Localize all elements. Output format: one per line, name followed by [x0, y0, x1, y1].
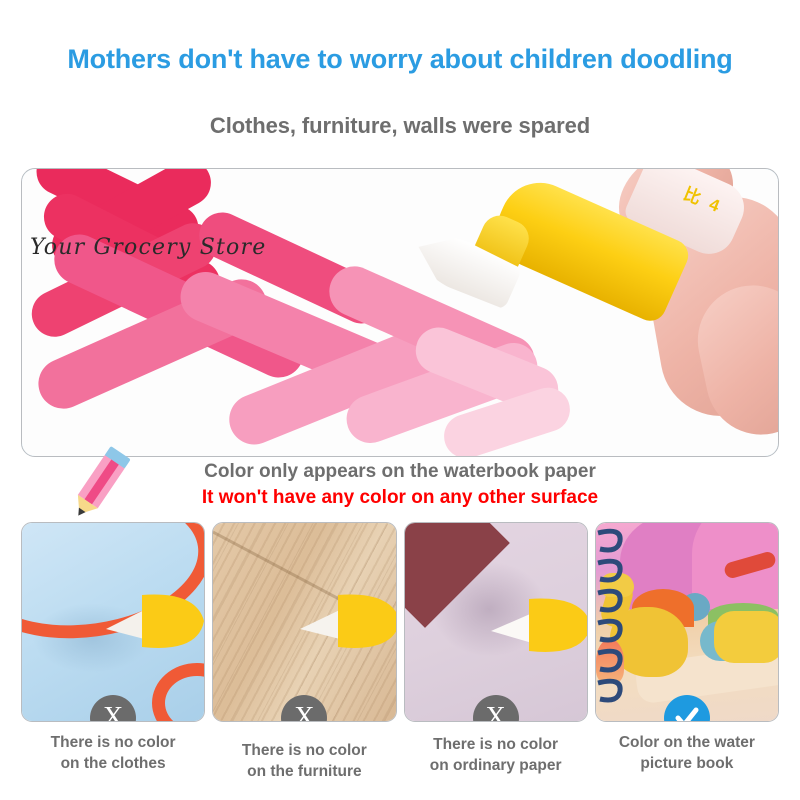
pen-tip-icon [479, 577, 588, 669]
caption-line: on ordinary paper [404, 756, 588, 777]
hero-image: Your Grocery Store 比 4 [21, 168, 779, 457]
caption-line: There is no color [21, 733, 205, 754]
caption-line: on the clothes [21, 754, 205, 775]
caption-line: picture book [595, 754, 779, 775]
panel-ordinary-paper[interactable]: X [404, 522, 588, 722]
caption-line: There is no color [404, 735, 588, 756]
page-subheadline: Clothes, furniture, walls were spared [0, 113, 800, 139]
comparison-panels: X X X [21, 522, 779, 722]
panel-captions: There is no color on the clothes There i… [21, 733, 779, 793]
caption-line: Color on the water [595, 733, 779, 754]
caption-clothes: There is no color on the clothes [21, 733, 205, 793]
panel-clothes[interactable]: X [21, 522, 205, 722]
caption-ordinary-paper: There is no color on ordinary paper [404, 733, 588, 793]
check-icon [673, 704, 701, 722]
pen-tip-icon [88, 575, 205, 667]
panel-furniture[interactable]: X [212, 522, 396, 722]
panel-water-picture-book[interactable] [595, 522, 779, 722]
store-watermark: Your Grocery Store [30, 235, 266, 260]
caption-furniture: There is no color on the furniture [212, 733, 396, 793]
book-art-dino-body [714, 611, 779, 663]
caption-line: There is no color [212, 741, 396, 762]
pencil-icon [61, 444, 137, 526]
page-headline: Mothers don't have to worry about childr… [0, 44, 800, 75]
spiral-binding-icon [596, 523, 626, 722]
caption-warning: It won't have any color on any other sur… [21, 487, 779, 509]
caption-line: on the furniture [212, 762, 396, 783]
infographic-page: Mothers don't have to worry about childr… [0, 0, 800, 800]
caption-bar: Color only appears on the waterbook pape… [21, 458, 779, 520]
water-pen-illustration: 比 4 [384, 168, 779, 425]
caption-primary: Color only appears on the waterbook pape… [21, 461, 779, 483]
caption-water-picture-book: Color on the water picture book [595, 733, 779, 793]
pen-tip-icon [286, 573, 397, 665]
